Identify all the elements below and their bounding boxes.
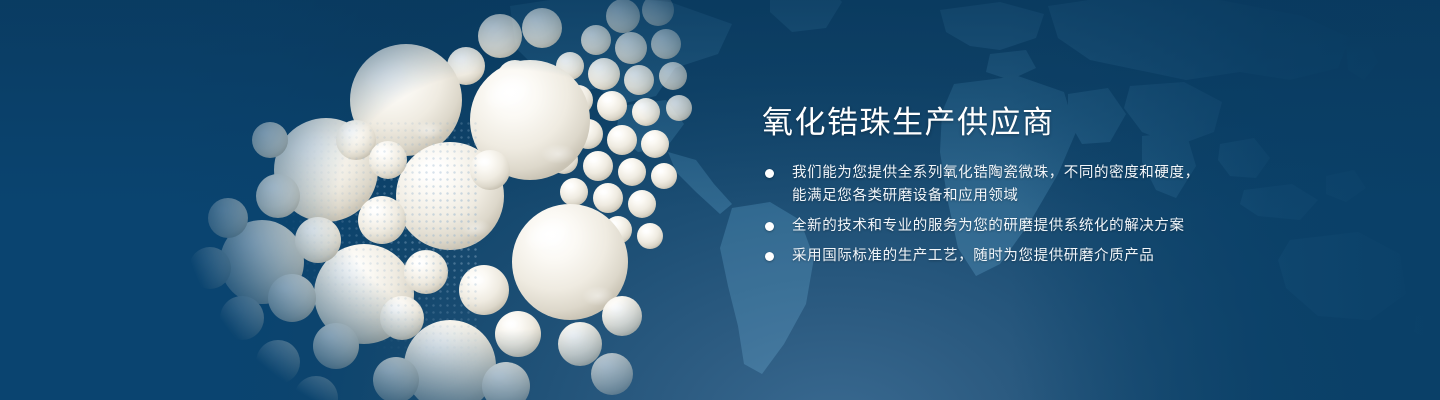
bullet-dot-icon	[765, 222, 774, 231]
list-item: 我们能为您提供全系列氧化锆陶瓷微珠，不同的密度和硬度， 能满足您各类研磨设备和应…	[762, 162, 1362, 208]
promo-banner: 氧化锆珠生产供应商 我们能为您提供全系列氧化锆陶瓷微珠，不同的密度和硬度， 能满…	[0, 0, 1440, 400]
bullet-dot-icon	[765, 252, 774, 261]
bullet-text-line-1: 采用国际标准的生产工艺，随时为您提供研磨介质产品	[792, 248, 1154, 264]
bullet-text-line-2: 能满足您各类研磨设备和应用领域	[792, 185, 1362, 208]
feature-bullet-list: 我们能为您提供全系列氧化锆陶瓷微珠，不同的密度和硬度， 能满足您各类研磨设备和应…	[762, 162, 1362, 268]
bullet-text-line-1: 我们能为您提供全系列氧化锆陶瓷微珠，不同的密度和硬度，	[792, 165, 1200, 181]
zirconia-beads-photo-inner	[150, 0, 730, 400]
zirconia-beads-photo	[150, 0, 730, 400]
banner-copy: 氧化锆珠生产供应商 我们能为您提供全系列氧化锆陶瓷微珠，不同的密度和硬度， 能满…	[762, 106, 1362, 268]
page-title: 氧化锆珠生产供应商	[762, 106, 1362, 140]
bullet-text-line-1: 全新的技术和专业的服务为您的研磨提供系统化的解决方案	[792, 218, 1185, 234]
list-item: 全新的技术和专业的服务为您的研磨提供系统化的解决方案	[762, 215, 1362, 238]
bullet-dot-icon	[765, 169, 774, 178]
list-item: 采用国际标准的生产工艺，随时为您提供研磨介质产品	[762, 245, 1362, 268]
